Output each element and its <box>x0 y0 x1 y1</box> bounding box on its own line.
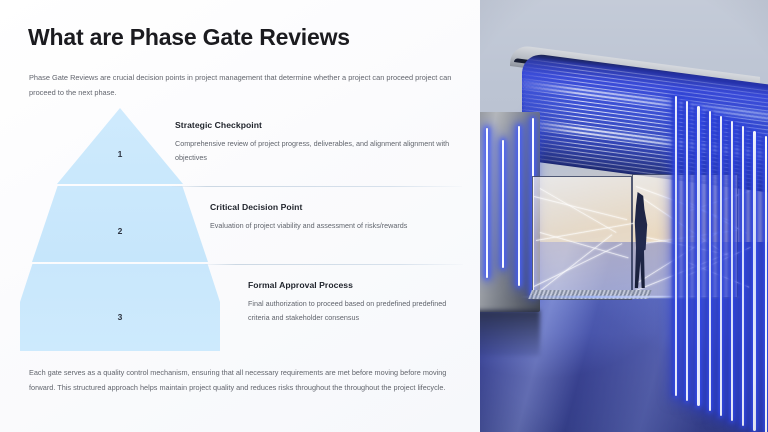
content-panel: What are Phase Gate Reviews Phase Gate R… <box>0 0 480 432</box>
list-item-1-description: Comprehensive review of project progress… <box>175 137 460 165</box>
list-item-3[interactable]: Formal Approval Process Final authorizat… <box>248 280 463 325</box>
item-divider-2 <box>205 264 463 265</box>
list-item-1[interactable]: Strategic Checkpoint Comprehensive revie… <box>175 120 460 165</box>
item-divider-1 <box>172 186 462 187</box>
outro-paragraph: Each gate serves as a quality control me… <box>29 366 453 396</box>
list-item-3-title: Formal Approval Process <box>248 280 463 290</box>
list-item-2-title: Critical Decision Point <box>210 202 460 212</box>
image-vignette <box>480 0 768 432</box>
list-item-2-description: Evaluation of project viability and asse… <box>210 219 460 233</box>
list-item-1-title: Strategic Checkpoint <box>175 120 460 130</box>
slide: What are Phase Gate Reviews Phase Gate R… <box>0 0 768 432</box>
hero-image <box>480 0 768 432</box>
list-item-3-description: Final authorization to proceed based on … <box>248 297 463 325</box>
list-item-2[interactable]: Critical Decision Point Evaluation of pr… <box>210 202 460 233</box>
